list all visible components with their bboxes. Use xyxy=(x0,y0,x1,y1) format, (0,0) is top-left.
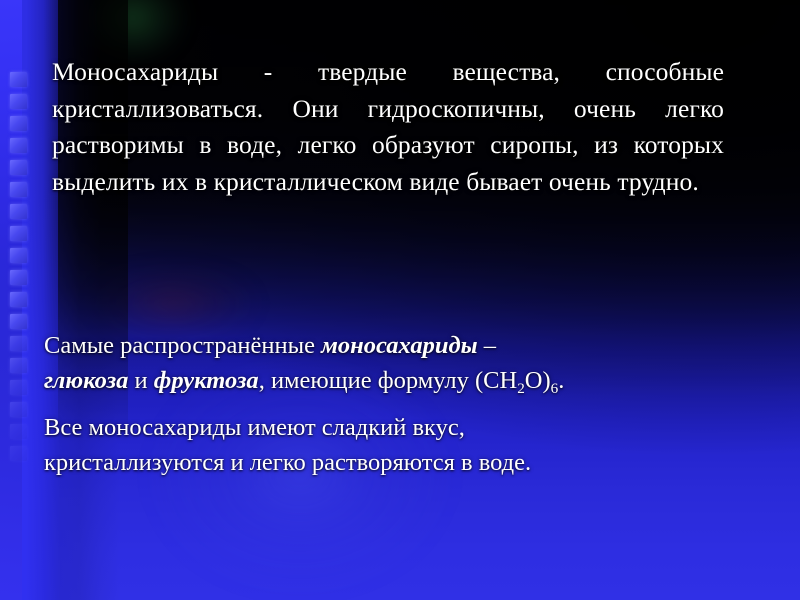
line2-conjunction: и xyxy=(128,367,153,394)
bottom-line-3: Все моносахариды имеют сладкий вкус, xyxy=(44,410,734,445)
presentation-slide: Моносахариды - твердые вещества, способн… xyxy=(0,0,800,600)
text-block-common-monosaccharides: Самые распространённые моносахариды – гл… xyxy=(44,328,734,480)
bottom-line-2: глюкоза и фруктоза, имеющие формулу (CH2… xyxy=(44,363,734,401)
line2-emphasis-glucose: глюкоза xyxy=(44,367,128,394)
line1-emphasis-monosaccharides: моносахариды xyxy=(321,332,478,359)
formula-subscript-6: 6 xyxy=(551,380,559,397)
line1-prefix: Самые распространённые xyxy=(44,332,321,359)
paragraph-top-text: Моносахариды - твердые вещества, способн… xyxy=(52,57,724,196)
line2-formula-mid: O) xyxy=(525,367,551,394)
line2-formula-end: . xyxy=(558,367,564,394)
line2-formula-lead: , имеющие формулу (CH xyxy=(259,367,518,394)
bottom-block-spacer xyxy=(44,401,734,410)
slide-text-layer: Моносахариды - твердые вещества, способн… xyxy=(0,0,800,600)
bottom-line-1: Самые распространённые моносахариды – xyxy=(44,328,734,363)
bottom-line-4: кристаллизуются и легко растворяются в в… xyxy=(44,445,734,480)
line2-emphasis-fructose: фруктоза xyxy=(154,367,259,394)
formula-subscript-2: 2 xyxy=(517,380,525,397)
paragraph-monosaccharides-properties: Моносахариды - твердые вещества, способн… xyxy=(52,54,724,200)
line1-suffix: – xyxy=(478,332,496,359)
